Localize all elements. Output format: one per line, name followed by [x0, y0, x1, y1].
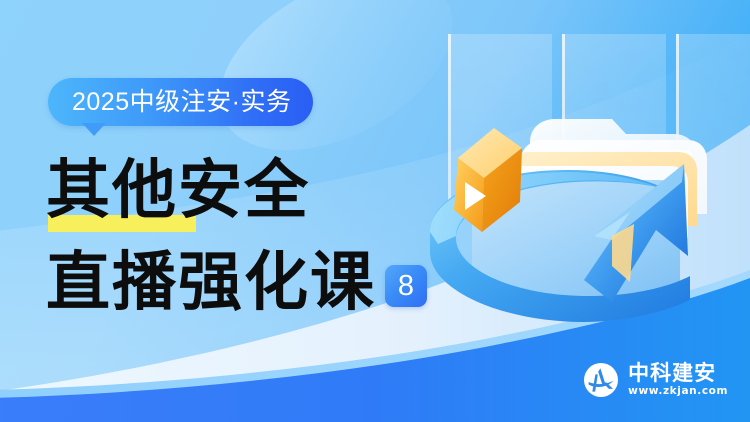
headline-line-1: 其他安全 — [46, 152, 466, 230]
tag-tail-icon — [82, 123, 106, 136]
course-tag-label: 2025中级注安·实务 — [72, 90, 291, 115]
banner-content: 2025中级注安·实务 其他安全 直播强化课8 — [0, 0, 460, 422]
episode-badge: 8 — [385, 265, 427, 307]
logo-mark-icon — [583, 362, 619, 398]
headline-line-1-text: 其他安全 — [46, 153, 310, 228]
course-banner: 2025中级注安·实务 其他安全 直播强化课8 中科建安 www.zkjan.c… — [0, 0, 750, 422]
episode-badge-number: 8 — [385, 265, 427, 307]
headline-line-2: 直播强化课8 — [46, 244, 466, 322]
course-tag-badge: 2025中级注安·实务 — [48, 78, 313, 126]
logo-url: www.zkjan.com — [628, 385, 728, 398]
headline-line-2-text: 直播强化课 — [46, 245, 376, 320]
logo-brand-name: 中科建安 — [628, 362, 728, 384]
brand-logo[interactable]: 中科建安 www.zkjan.com — [583, 362, 728, 398]
logo-text-block: 中科建安 www.zkjan.com — [628, 362, 728, 398]
page-title: 其他安全 直播强化课8 — [46, 152, 466, 322]
